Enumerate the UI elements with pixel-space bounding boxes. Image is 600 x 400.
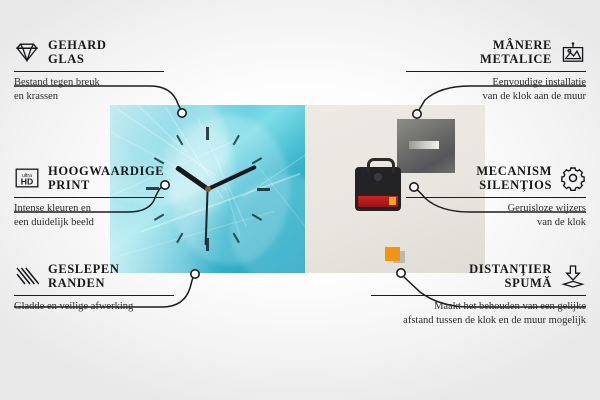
- foam-spacer-icon: [560, 263, 586, 289]
- feature-description: Geruisloze wijzers van de klok: [406, 202, 586, 230]
- ultra-hd-icon: ultra HD: [14, 165, 40, 191]
- divider: [14, 197, 164, 198]
- feature-title: GEHARD GLAS: [48, 38, 106, 67]
- battery: [358, 196, 398, 207]
- picture-hanger-icon: [560, 39, 586, 65]
- feature-description: Bestand tegen breuk en krassen: [14, 76, 164, 104]
- infographic-canvas: GEHARD GLAS Bestand tegen breuk en krass…: [0, 0, 600, 400]
- feature-title: HOOGWAARDIGE PRINT: [48, 164, 164, 193]
- divider: [406, 197, 586, 198]
- battery-terminal: [389, 197, 396, 205]
- feature-header: GEHARD GLAS: [14, 38, 164, 67]
- feature-header: DISTANŢIER SPUMĂ: [371, 262, 586, 291]
- feature-hoogwaardige-print: ultra HD HOOGWAARDIGE PRINT Intense kleu…: [14, 164, 164, 229]
- feature-gehard-glas: GEHARD GLAS Bestand tegen breuk en krass…: [14, 38, 164, 103]
- feature-description: Gladde en veilige afwerking: [14, 300, 174, 314]
- tick-3: [208, 188, 270, 190]
- feature-description: Eenvoudige installatie van de klok aan d…: [406, 76, 586, 104]
- feature-mecanism-silentios: MECANISM SILENŢIOS Geruisloze wijzers va…: [406, 164, 586, 229]
- feature-header: GESLEPEN RANDEN: [14, 262, 174, 291]
- feature-title: MÂNERE METALICE: [480, 38, 552, 67]
- feature-geslepen-randen: GESLEPEN RANDEN Gladde en veilige afwerk…: [14, 262, 174, 314]
- feature-title: MECANISM SILENŢIOS: [476, 164, 552, 193]
- divider: [14, 295, 174, 296]
- beveled-edges-icon: [14, 263, 40, 289]
- mechanism-hanger-loop: [367, 158, 395, 173]
- divider: [371, 295, 586, 296]
- feature-manere-metalice: MÂNERE METALICE Eenvoudige installatie v…: [406, 38, 586, 103]
- hands-center-cap: [205, 186, 211, 192]
- feature-header: MÂNERE METALICE: [406, 38, 586, 67]
- feature-title: DISTANŢIER SPUMĂ: [469, 262, 552, 291]
- hanger-slot: [409, 141, 439, 149]
- mechanism-shaft: [374, 173, 382, 181]
- foam-spacer: [385, 247, 400, 261]
- feature-description: Intense kleuren en een duidelijk beeld: [14, 202, 164, 230]
- feature-header: ultra HD HOOGWAARDIGE PRINT: [14, 164, 164, 193]
- feature-distantier-spuma: DISTANŢIER SPUMĂ Maakt het behouden van …: [371, 262, 586, 327]
- feature-description: Maakt het behouden van een gelijke afsta…: [371, 300, 586, 328]
- divider: [14, 71, 164, 72]
- gear-icon: [560, 165, 586, 191]
- tick-12: [207, 127, 209, 189]
- feature-header: MECANISM SILENŢIOS: [406, 164, 586, 193]
- diamond-icon: [14, 39, 40, 65]
- feature-title: GESLEPEN RANDEN: [48, 262, 120, 291]
- quartz-mechanism: [355, 167, 401, 211]
- divider: [406, 71, 586, 72]
- svg-text:HD: HD: [21, 177, 33, 187]
